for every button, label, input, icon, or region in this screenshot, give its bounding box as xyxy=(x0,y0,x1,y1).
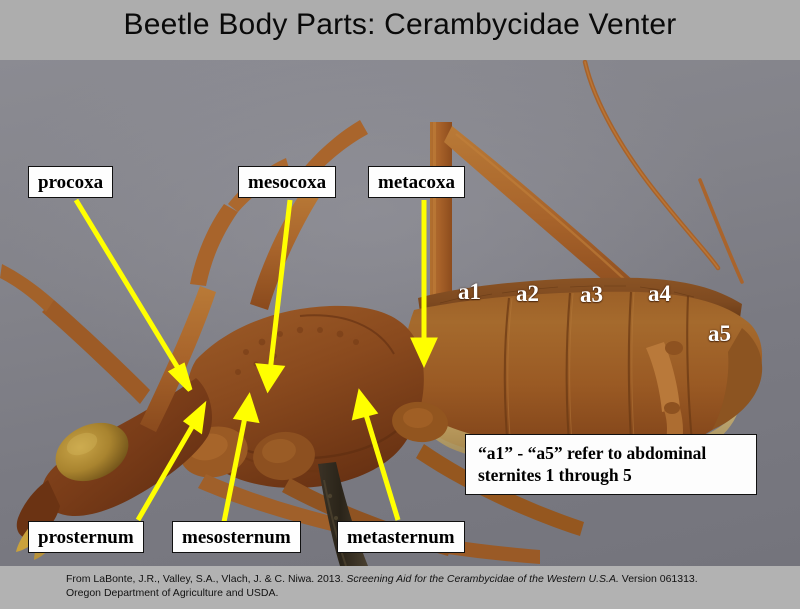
callout-metasternum[interactable]: metasternum xyxy=(337,521,465,553)
callout-procoxa[interactable]: procoxa xyxy=(28,166,113,198)
page-title: Beetle Body Parts: Cerambycidae Venter xyxy=(0,8,800,42)
callout-metacoxa[interactable]: metacoxa xyxy=(368,166,465,198)
segment-label-a4: a4 xyxy=(648,282,671,305)
citation-line-2: Oregon Department of Agriculture and USD… xyxy=(66,587,766,601)
citation-version: Version 061313. xyxy=(619,573,698,585)
note-line-2: sternites 1 through 5 xyxy=(478,464,744,486)
segment-label-a2: a2 xyxy=(516,282,539,305)
callout-mesocoxa[interactable]: mesocoxa xyxy=(238,166,336,198)
segment-label-a5: a5 xyxy=(708,322,731,345)
callout-mesosternum[interactable]: mesosternum xyxy=(172,521,301,553)
abdominal-sternites-note: “a1” - “a5” refer to abdominal sternites… xyxy=(465,434,757,495)
slide: Beetle Body Parts: Cerambycidae Venter xyxy=(0,0,800,609)
footer-bar: From LaBonte, J.R., Valley, S.A., Vlach,… xyxy=(0,566,800,609)
segment-label-a1: a1 xyxy=(458,280,481,303)
segment-label-a3: a3 xyxy=(580,283,603,306)
citation-title: Screening Aid for the Cerambycidae of th… xyxy=(346,573,619,585)
callout-prosternum[interactable]: prosternum xyxy=(28,521,144,553)
citation-line-1: From LaBonte, J.R., Valley, S.A., Vlach,… xyxy=(66,573,766,587)
header-bar: Beetle Body Parts: Cerambycidae Venter xyxy=(0,0,800,60)
note-line-1: “a1” - “a5” refer to abdominal xyxy=(478,442,744,464)
citation-authors: From LaBonte, J.R., Valley, S.A., Vlach,… xyxy=(66,573,346,585)
